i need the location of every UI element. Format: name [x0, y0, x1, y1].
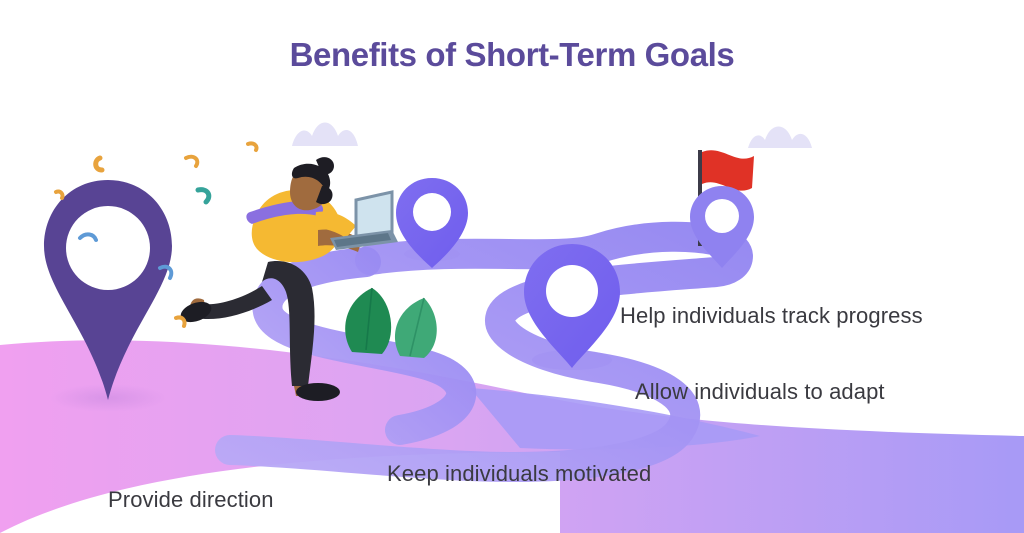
illustration-artwork [0, 0, 1024, 533]
benefit-label-track-progress: Help individuals track progress [620, 303, 923, 329]
infographic-canvas: Benefits of Short-Term Goals Help indivi… [0, 0, 1024, 533]
benefit-label-provide-direction: Provide direction [108, 487, 274, 513]
page-title: Benefits of Short-Term Goals [0, 36, 1024, 74]
benefit-label-keep-motivated: Keep individuals motivated [387, 461, 651, 487]
cloud-shape-right [748, 127, 812, 149]
cloud-shape-left [292, 123, 358, 147]
benefit-label-adapt: Allow individuals to adapt [635, 379, 885, 405]
